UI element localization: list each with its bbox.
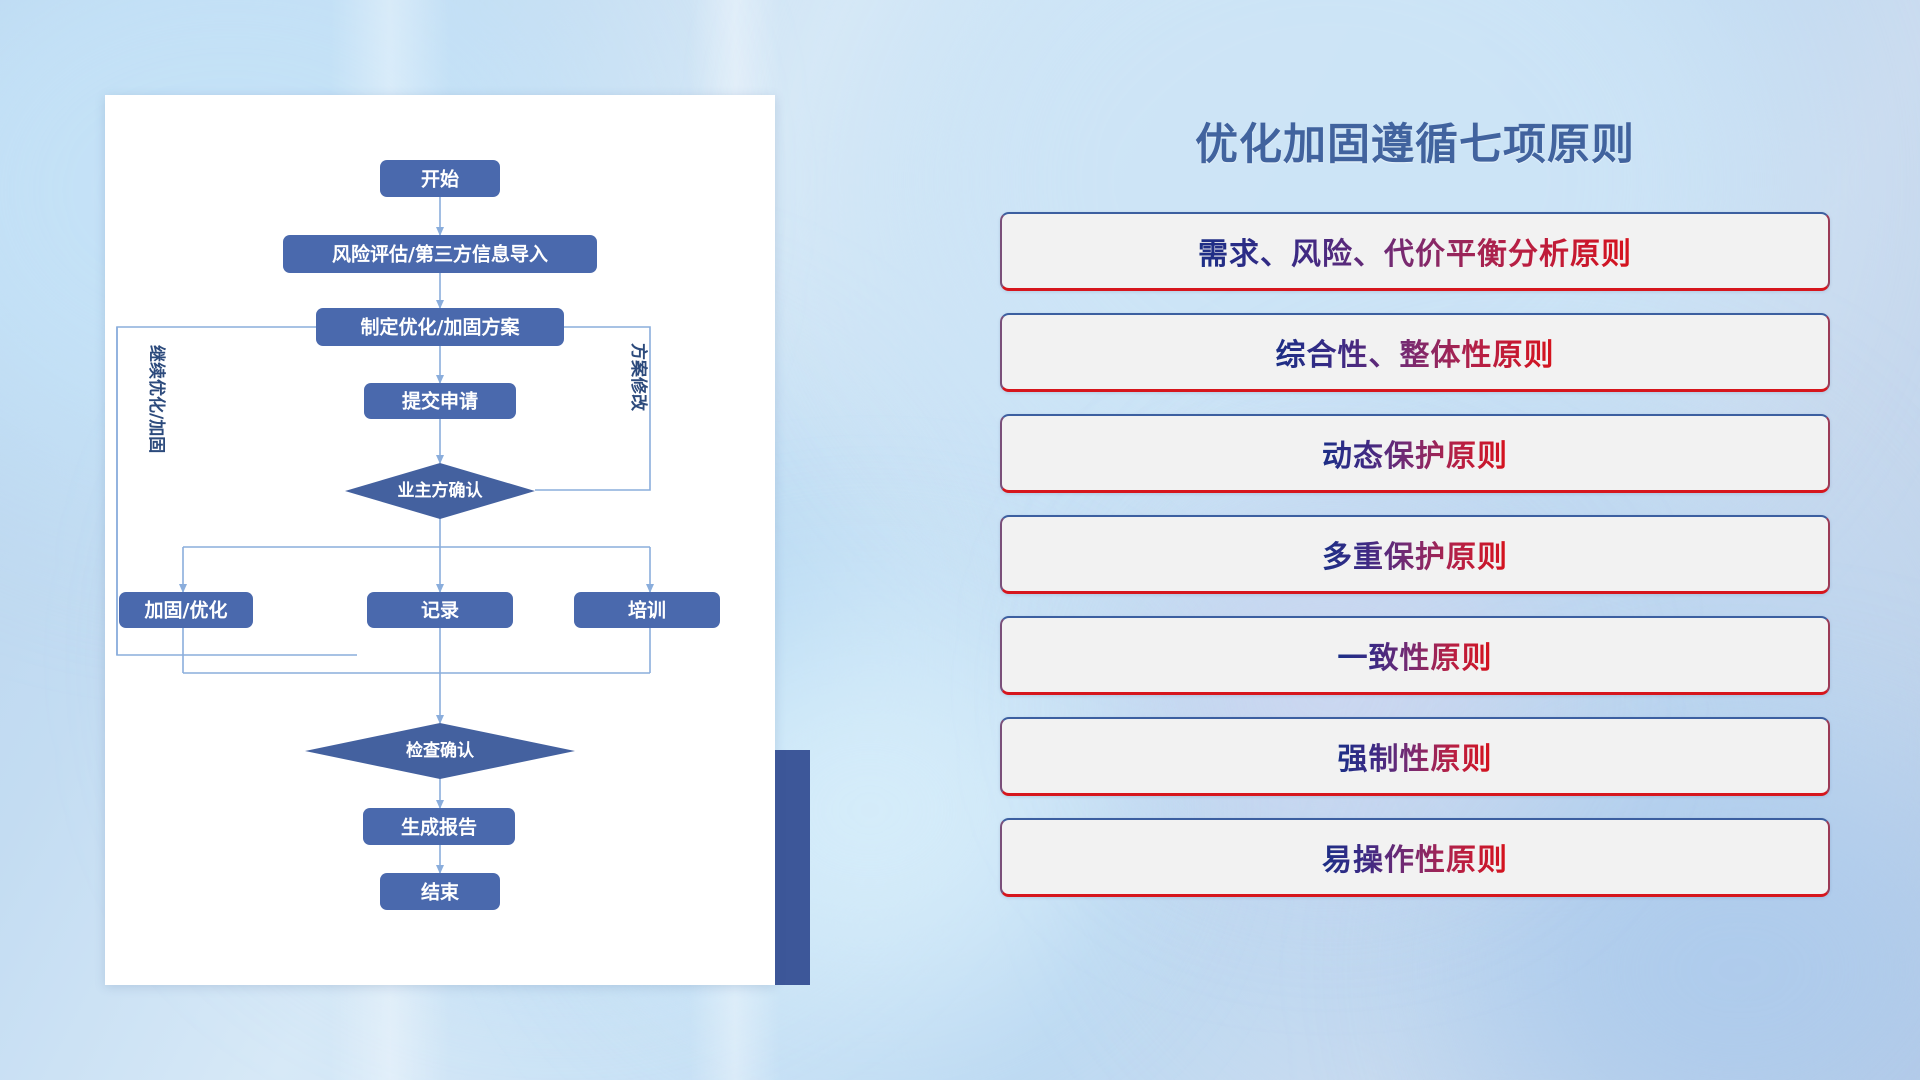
flow-node-report-label: 生成报告 — [401, 816, 477, 839]
flow-node-submit-label: 提交申请 — [402, 390, 478, 413]
principle-card-2[interactable]: 综合性、整体性原则 — [1000, 313, 1830, 392]
flow-node-risk-assessment[interactable]: 风险评估/第三方信息导入 — [283, 235, 597, 273]
flow-connectors — [117, 195, 650, 873]
flow-node-end[interactable]: 结束 — [380, 873, 500, 910]
principle-card-3-label: 动态保护原则 — [1322, 431, 1508, 475]
flowchart-diagram: 开始 风险评估/第三方信息导入 制定优化/加固方案 提交申请 业主方确认 加固/… — [105, 95, 775, 985]
flow-node-plan[interactable]: 制定优化/加固方案 — [316, 308, 564, 346]
flow-node-reinforce[interactable]: 加固/优化 — [119, 592, 253, 628]
principle-card-4-label: 多重保护原则 — [1322, 532, 1508, 576]
principle-card-2-label: 综合性、整体性原则 — [1276, 330, 1555, 374]
flow-node-submit[interactable]: 提交申请 — [364, 383, 516, 419]
flow-node-record-label: 记录 — [421, 600, 459, 622]
flow-node-record[interactable]: 记录 — [367, 592, 513, 628]
principle-card-7[interactable]: 易操作性原则 — [1000, 818, 1830, 897]
principles-card-list: 需求、风险、代价平衡分析原则 综合性、整体性原则 动态保护原则 多重保护原则 一… — [1000, 212, 1830, 897]
flow-node-start[interactable]: 开始 — [380, 160, 500, 197]
principles-panel: 优化加固遵循七项原则 需求、风险、代价平衡分析原则 综合性、整体性原则 动态保护… — [1000, 80, 1830, 1030]
flowchart-card: 开始 风险评估/第三方信息导入 制定优化/加固方案 提交申请 业主方确认 加固/… — [105, 95, 775, 985]
principle-card-3[interactable]: 动态保护原则 — [1000, 414, 1830, 493]
principle-card-7-label: 易操作性原则 — [1322, 835, 1508, 879]
flow-node-training-label: 培训 — [628, 599, 666, 622]
flow-edge-label-plan-revision: 方案修改 — [628, 343, 649, 412]
principle-card-6-label: 强制性原则 — [1338, 734, 1493, 778]
principle-card-5-label: 一致性原则 — [1338, 633, 1493, 677]
principle-card-1[interactable]: 需求、风险、代价平衡分析原则 — [1000, 212, 1830, 291]
principle-card-5[interactable]: 一致性原则 — [1000, 616, 1830, 695]
page-title: 优化加固遵循七项原则 — [1000, 110, 1830, 172]
flow-node-training[interactable]: 培训 — [574, 592, 720, 628]
flow-node-check-confirm-label: 检查确认 — [406, 740, 475, 761]
flow-node-start-label: 开始 — [421, 168, 459, 191]
principle-card-4[interactable]: 多重保护原则 — [1000, 515, 1830, 594]
flow-node-plan-label: 制定优化/加固方案 — [361, 316, 521, 339]
flow-node-reinforce-label: 加固/优化 — [144, 599, 228, 622]
flow-node-report[interactable]: 生成报告 — [363, 808, 515, 845]
flow-node-owner-confirm-label: 业主方确认 — [398, 480, 484, 501]
flow-node-check-confirm[interactable]: 检查确认 — [305, 723, 575, 779]
flow-node-end-label: 结束 — [421, 881, 460, 904]
principle-card-1-label: 需求、风险、代价平衡分析原则 — [1198, 229, 1632, 273]
principle-card-6[interactable]: 强制性原则 — [1000, 717, 1830, 796]
flow-node-owner-confirm[interactable]: 业主方确认 — [345, 463, 535, 519]
flow-edge-label-continue-optimize: 继续优化/加固 — [146, 345, 167, 453]
flow-node-risk-assessment-label: 风险评估/第三方信息导入 — [332, 243, 548, 266]
